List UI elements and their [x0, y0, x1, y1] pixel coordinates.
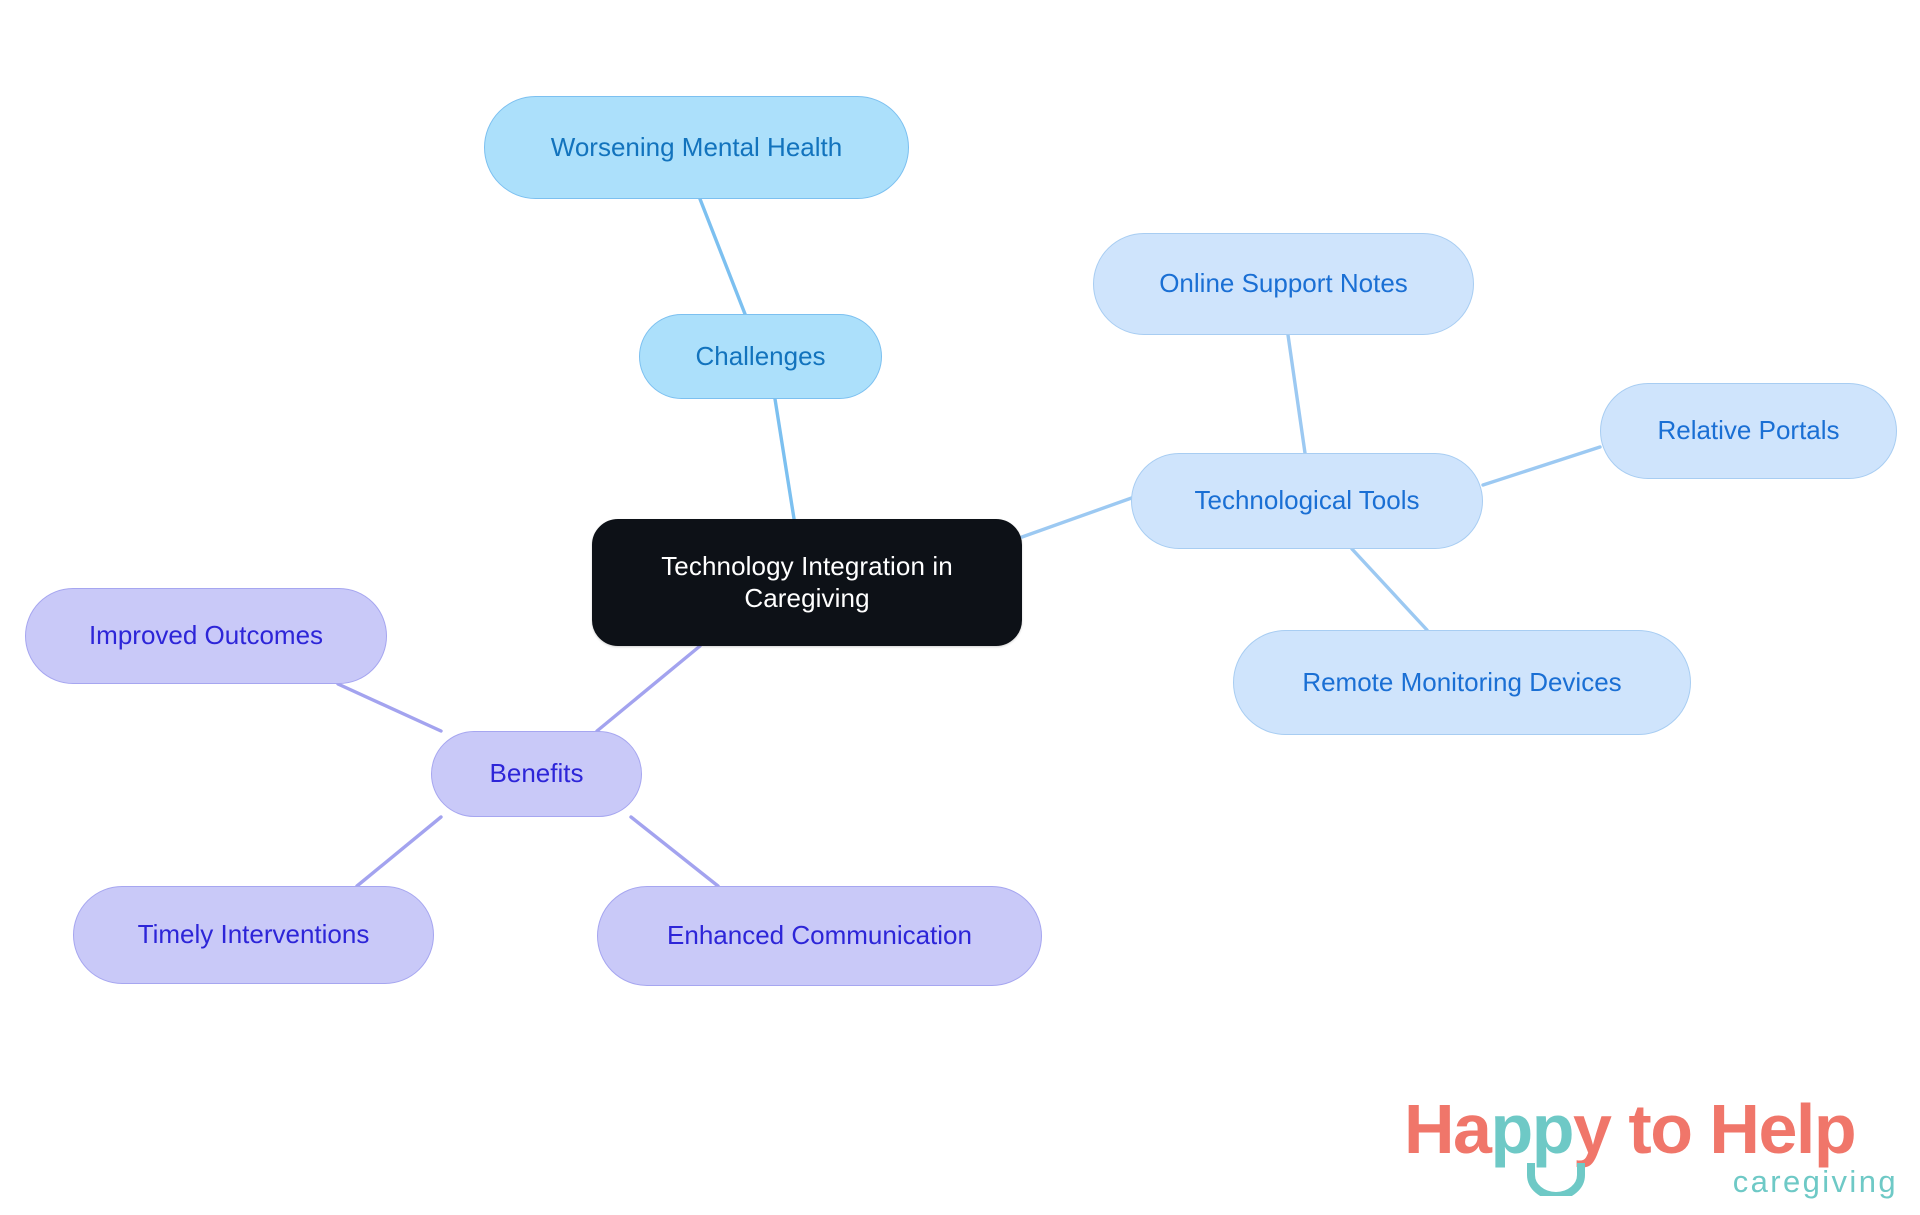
edge-tools-relative-portals: [1483, 447, 1600, 485]
edge-root-technological-tools: [1022, 495, 1140, 537]
node-label: Challenges: [695, 341, 825, 373]
mindmap-branch-node-technological-tools[interactable]: Technological Tools: [1131, 453, 1483, 549]
node-label: Enhanced Communication: [667, 920, 972, 952]
mindmap-branch-node-challenges[interactable]: Challenges: [639, 314, 882, 399]
logo-smile-icon: [1527, 1162, 1585, 1196]
brand-logo: Happy to Help caregiving: [1404, 1094, 1904, 1206]
node-label: Online Support Notes: [1159, 268, 1408, 300]
node-label: Technological Tools: [1195, 485, 1420, 517]
edge-root-challenges: [775, 399, 795, 525]
mindmap-canvas: Technology Integration in CaregivingChal…: [0, 0, 1920, 1215]
mindmap-root-node[interactable]: Technology Integration in Caregiving: [592, 519, 1022, 646]
mindmap-branch-node-benefits[interactable]: Benefits: [431, 731, 642, 817]
edge-benefits-enhanced: [631, 817, 718, 886]
mindmap-leaf-node-enhanced-communication[interactable]: Enhanced Communication: [597, 886, 1042, 986]
edge-tools-online-notes: [1288, 335, 1305, 453]
logo-text-to-help: to Help: [1610, 1090, 1855, 1168]
node-label: Benefits: [490, 758, 584, 790]
mindmap-leaf-node-online-support-notes[interactable]: Online Support Notes: [1093, 233, 1474, 335]
edge-tools-remote-monitoring: [1352, 549, 1427, 630]
edge-root-benefits: [597, 646, 700, 731]
mindmap-leaf-node-relative-portals[interactable]: Relative Portals: [1600, 383, 1897, 479]
edge-challenges-worsening: [700, 199, 745, 314]
logo-wordmark: Happy to Help: [1404, 1094, 1855, 1164]
logo-tagline: caregiving: [1733, 1166, 1898, 1197]
logo-text-ha: Ha: [1404, 1090, 1490, 1168]
node-label: Improved Outcomes: [89, 620, 323, 652]
logo-text-pp: pp: [1490, 1090, 1573, 1168]
node-label: Timely Interventions: [138, 919, 370, 951]
logo-text-y: y: [1573, 1090, 1610, 1168]
node-label: Worsening Mental Health: [551, 132, 842, 164]
node-label: Technology Integration in Caregiving: [661, 551, 953, 614]
edge-benefits-timely: [357, 817, 441, 886]
mindmap-leaf-node-remote-monitoring-devices[interactable]: Remote Monitoring Devices: [1233, 630, 1691, 735]
mindmap-leaf-node-improved-outcomes[interactable]: Improved Outcomes: [25, 588, 387, 684]
node-label: Relative Portals: [1657, 415, 1839, 447]
node-label: Remote Monitoring Devices: [1302, 667, 1621, 699]
mindmap-leaf-node-worsening-mental-health[interactable]: Worsening Mental Health: [484, 96, 909, 199]
mindmap-leaf-node-timely-interventions[interactable]: Timely Interventions: [73, 886, 434, 984]
edge-benefits-improved: [338, 684, 441, 731]
